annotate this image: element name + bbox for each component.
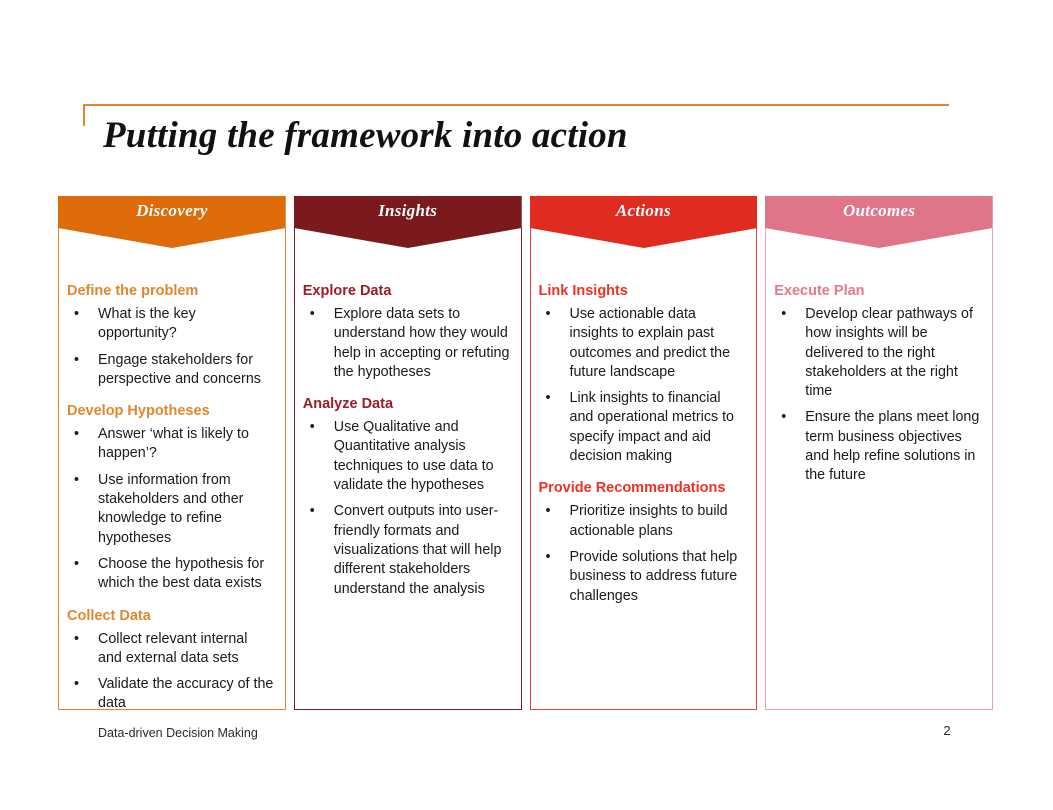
- bullet-item-text: What is the key opportunity?: [98, 306, 196, 341]
- bullet-dot-icon: •: [781, 408, 786, 427]
- bullet-dot-icon: •: [310, 305, 315, 324]
- bullet-item: •Validate the accuracy of the data: [67, 675, 274, 710]
- framework-column-discovery: DiscoveryDefine the problem•What is the …: [58, 196, 286, 710]
- content-group-define-the-problem: Define the problem•What is the key oppor…: [67, 282, 274, 389]
- column-header-discovery[interactable]: Discovery: [58, 196, 286, 248]
- bullet-item-text: Choose the hypothesis for which the best…: [98, 556, 264, 591]
- group-heading: Provide Recommendations: [539, 479, 746, 497]
- bullet-item-text: Develop clear pathways of how insights w…: [805, 306, 973, 399]
- framework-column-outcomes: OutcomesExecute Plan•Develop clear pathw…: [765, 196, 993, 710]
- slide-canvas: Putting the framework into action Discov…: [0, 0, 1053, 810]
- group-heading: Execute Plan: [774, 282, 981, 300]
- column-header-label: Outcomes: [765, 196, 993, 228]
- bullet-list: •Use actionable data insights to explain…: [539, 305, 746, 466]
- bullet-item-text: Provide solutions that help business to …: [570, 549, 738, 604]
- bullet-item: •Link insights to financial and operatio…: [539, 389, 746, 466]
- bullet-item: •Provide solutions that help business to…: [539, 548, 746, 606]
- bullet-item: •Use actionable data insights to explain…: [539, 305, 746, 382]
- group-heading: Analyze Data: [303, 395, 510, 413]
- bullet-list: •Collect relevant internal and external …: [67, 630, 274, 710]
- content-group-develop-hypotheses: Develop Hypotheses•Answer ‘what is likel…: [67, 402, 274, 593]
- column-header-label: Discovery: [58, 196, 286, 228]
- bullet-list: •Explore data sets to understand how the…: [303, 305, 510, 382]
- group-heading: Collect Data: [67, 607, 274, 625]
- column-body-discovery: Define the problem•What is the key oppor…: [58, 228, 286, 710]
- bullet-item: •Prioritize insights to build actionable…: [539, 502, 746, 541]
- bullet-dot-icon: •: [74, 425, 79, 444]
- bullet-item: •Convert outputs into user-friendly form…: [303, 502, 510, 598]
- bullet-list: •Answer ‘what is likely to happen’?•Use …: [67, 425, 274, 593]
- bullet-list: •Prioritize insights to build actionable…: [539, 502, 746, 605]
- bullet-item: •Use Qualitative and Quantitative analys…: [303, 418, 510, 495]
- bullet-dot-icon: •: [74, 630, 79, 649]
- bullet-dot-icon: •: [310, 502, 315, 521]
- bullet-dot-icon: •: [74, 471, 79, 490]
- bullet-item-text: Answer ‘what is likely to happen’?: [98, 426, 249, 461]
- bullet-list: •Use Qualitative and Quantitative analys…: [303, 418, 510, 599]
- bullet-item-text: Convert outputs into user-friendly forma…: [334, 503, 502, 596]
- content-group-analyze-data: Analyze Data•Use Qualitative and Quantit…: [303, 395, 510, 599]
- column-header-label: Actions: [530, 196, 758, 228]
- column-header-actions[interactable]: Actions: [530, 196, 758, 248]
- bullet-item-text: Engage stakeholders for perspective and …: [98, 352, 261, 387]
- title-block: Putting the framework into action: [83, 104, 949, 166]
- bullet-list: •Develop clear pathways of how insights …: [774, 305, 981, 486]
- bullet-dot-icon: •: [546, 389, 551, 408]
- group-heading: Link Insights: [539, 282, 746, 300]
- framework-column-actions: ActionsLink Insights•Use actionable data…: [530, 196, 758, 710]
- bullet-dot-icon: •: [74, 675, 79, 694]
- title-top-rule: [83, 104, 949, 106]
- bullet-item-text: Explore data sets to understand how they…: [334, 306, 510, 380]
- content-group-execute-plan: Execute Plan•Develop clear pathways of h…: [774, 282, 981, 486]
- bullet-item-text: Collect relevant internal and external d…: [98, 631, 247, 666]
- content-group-explore-data: Explore Data•Explore data sets to unders…: [303, 282, 510, 382]
- bullet-dot-icon: •: [546, 548, 551, 567]
- column-header-label: Insights: [294, 196, 522, 228]
- bullet-item: •Engage stakeholders for perspective and…: [67, 351, 274, 390]
- group-heading: Explore Data: [303, 282, 510, 300]
- bullet-item: •Answer ‘what is likely to happen’?: [67, 425, 274, 464]
- bullet-item-text: Use actionable data insights to explain …: [570, 306, 731, 380]
- bullet-item: •Develop clear pathways of how insights …: [774, 305, 981, 401]
- footer-note: Data-driven Decision Making: [98, 725, 258, 741]
- bullet-item-text: Link insights to financial and operation…: [570, 390, 735, 464]
- bullet-dot-icon: •: [546, 502, 551, 521]
- bullet-item: •Choose the hypothesis for which the bes…: [67, 555, 274, 594]
- column-body-outcomes: Execute Plan•Develop clear pathways of h…: [765, 228, 993, 710]
- bullet-dot-icon: •: [74, 555, 79, 574]
- bullet-item-text: Use information from stakeholders and ot…: [98, 472, 243, 546]
- bullet-item: •Use information from stakeholders and o…: [67, 471, 274, 548]
- column-header-outcomes[interactable]: Outcomes: [765, 196, 993, 248]
- title-left-tick: [83, 104, 85, 126]
- bullet-item-text: Ensure the plans meet long term business…: [805, 409, 979, 483]
- bullet-list: •What is the key opportunity?•Engage sta…: [67, 305, 274, 389]
- content-group-collect-data: Collect Data•Collect relevant internal a…: [67, 607, 274, 710]
- page-title: Putting the framework into action: [103, 112, 628, 160]
- framework-column-insights: InsightsExplore Data•Explore data sets t…: [294, 196, 522, 710]
- bullet-item: •Ensure the plans meet long term busines…: [774, 408, 981, 485]
- content-group-provide-recommendations: Provide Recommendations•Prioritize insig…: [539, 479, 746, 605]
- content-group-link-insights: Link Insights•Use actionable data insigh…: [539, 282, 746, 466]
- bullet-item-text: Prioritize insights to build actionable …: [570, 503, 728, 538]
- column-body-insights: Explore Data•Explore data sets to unders…: [294, 228, 522, 710]
- bullet-dot-icon: •: [546, 305, 551, 324]
- bullet-dot-icon: •: [310, 418, 315, 437]
- bullet-item: •Collect relevant internal and external …: [67, 630, 274, 669]
- bullet-item: •Explore data sets to understand how the…: [303, 305, 510, 382]
- page-number: 2: [935, 723, 959, 739]
- column-body-actions: Link Insights•Use actionable data insigh…: [530, 228, 758, 710]
- column-header-insights[interactable]: Insights: [294, 196, 522, 248]
- bullet-dot-icon: •: [74, 351, 79, 370]
- bullet-dot-icon: •: [74, 305, 79, 324]
- bullet-item-text: Use Qualitative and Quantitative analysi…: [334, 419, 494, 493]
- framework-columns: DiscoveryDefine the problem•What is the …: [58, 196, 993, 710]
- bullet-item: •What is the key opportunity?: [67, 305, 274, 344]
- bullet-dot-icon: •: [781, 305, 786, 324]
- group-heading: Define the problem: [67, 282, 274, 300]
- bullet-item-text: Validate the accuracy of the data: [98, 676, 273, 710]
- group-heading: Develop Hypotheses: [67, 402, 274, 420]
